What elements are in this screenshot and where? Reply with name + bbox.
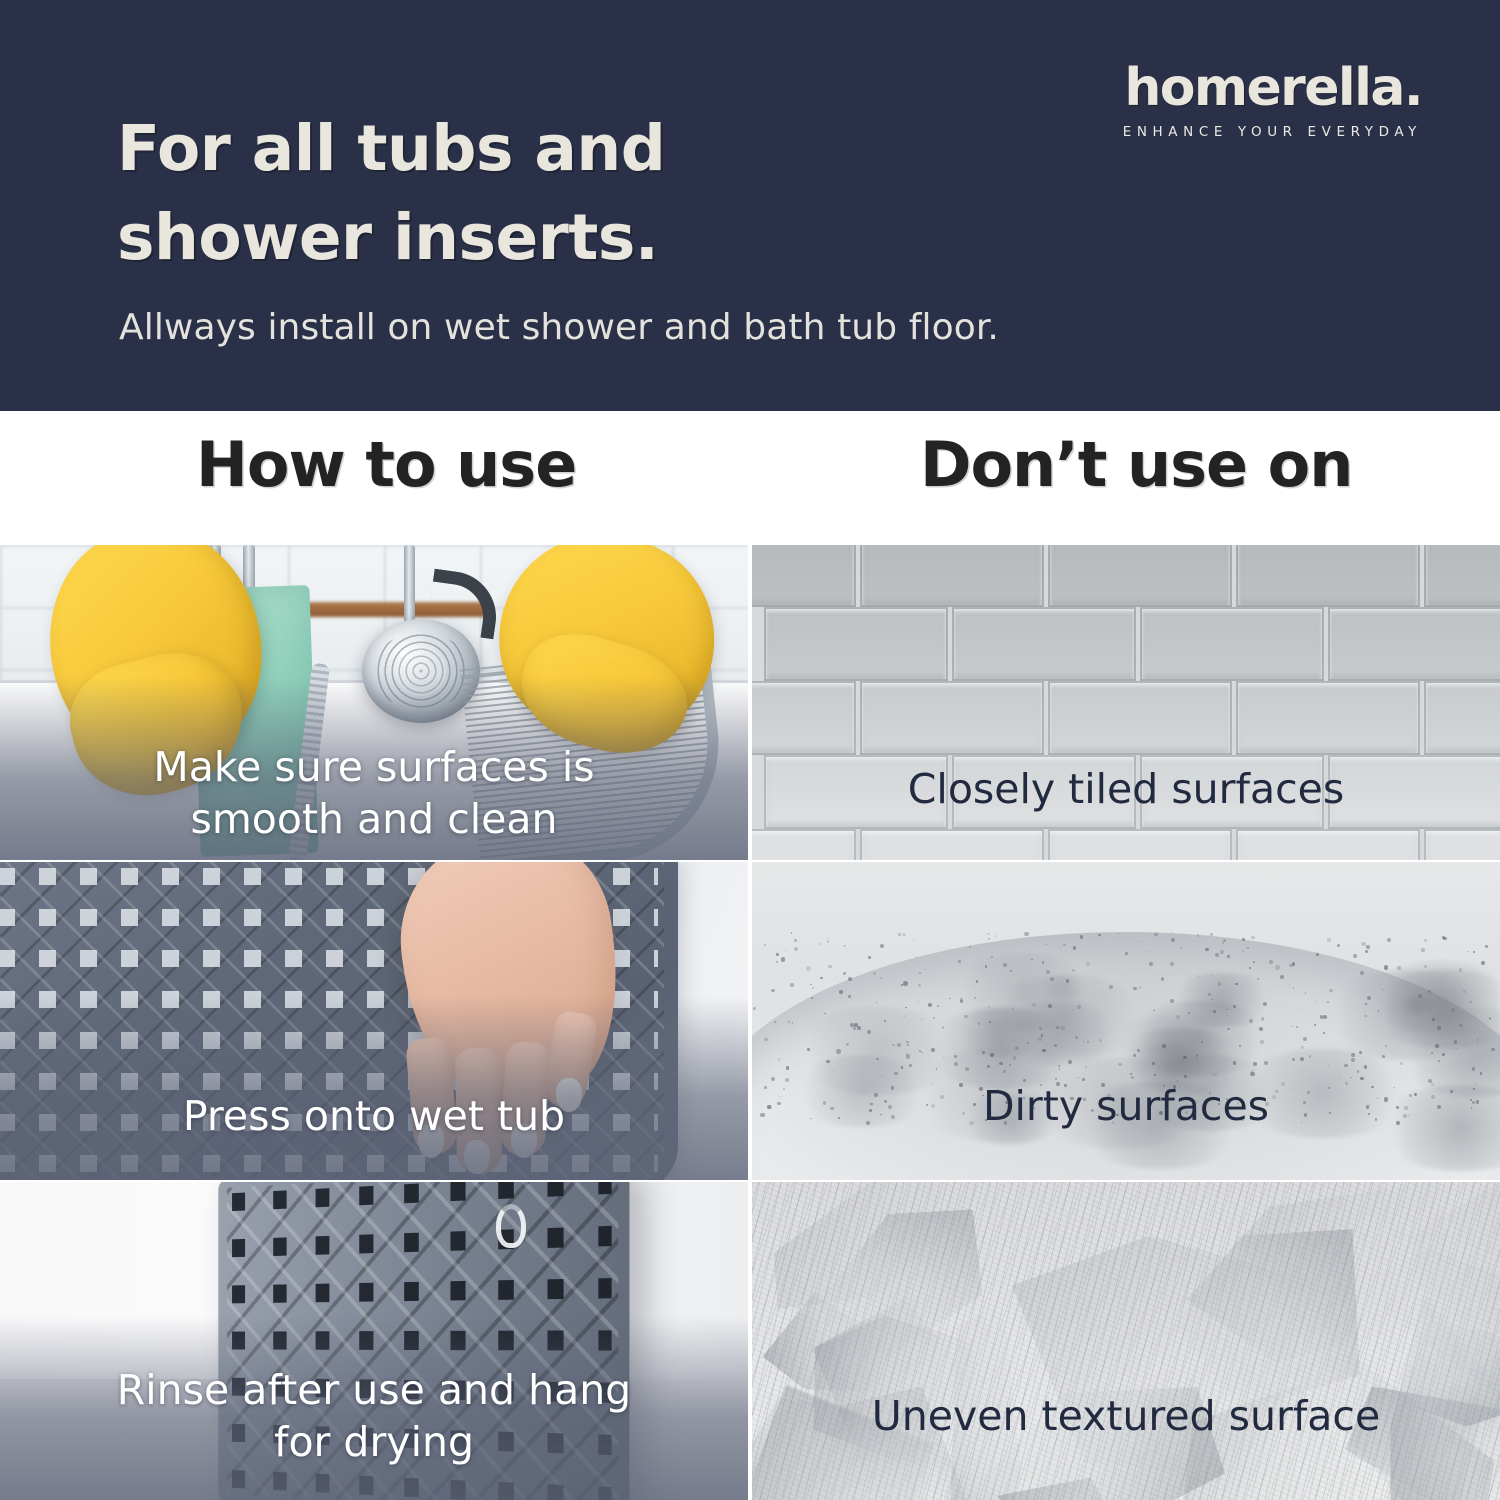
grime-speck — [926, 1104, 928, 1106]
grime-speck — [823, 1101, 826, 1104]
grime-speck — [1039, 1027, 1042, 1030]
grime-speck — [931, 1048, 935, 1052]
grime-speck — [764, 1038, 767, 1041]
grime-speck — [1042, 1049, 1045, 1052]
grime-speck — [1396, 1121, 1400, 1125]
grime-speck — [819, 943, 820, 944]
grime-speck — [933, 1017, 935, 1019]
grime-speck — [1485, 945, 1488, 948]
grime-speck — [1472, 1101, 1475, 1104]
grime-speck — [1032, 1003, 1036, 1007]
grime-speck — [903, 981, 907, 985]
grime-speck — [918, 984, 921, 987]
grime-speck — [1351, 1053, 1355, 1057]
grime-speck — [1109, 985, 1113, 989]
grime-speck — [1235, 983, 1238, 986]
dont-use-on-item-3: Uneven textured surface — [752, 1182, 1500, 1500]
grime-speck — [1353, 954, 1357, 958]
grime-speck — [1239, 1045, 1241, 1047]
grime-speck — [776, 953, 779, 956]
grime-speck — [1323, 1015, 1327, 1019]
grime-speck — [1064, 1084, 1066, 1086]
grime-speck — [1329, 989, 1332, 992]
grime-speck — [1220, 950, 1224, 954]
grime-speck — [1259, 1027, 1263, 1031]
grime-speck — [892, 1044, 894, 1046]
subway-tile — [752, 545, 856, 607]
subway-tile — [1236, 545, 1420, 607]
grime-speck — [1149, 962, 1153, 966]
grime-speck — [1046, 944, 1047, 945]
grime-speck — [812, 987, 814, 989]
grime-speck — [786, 1066, 789, 1069]
grime-speck — [1077, 1005, 1081, 1009]
grime-speck — [1208, 993, 1211, 996]
subway-tile — [860, 829, 1044, 860]
grime-speck — [777, 1102, 780, 1105]
grime-speck — [904, 1015, 905, 1016]
grime-speck — [1365, 950, 1368, 953]
subway-tile — [764, 607, 948, 681]
grime-speck — [1475, 1083, 1476, 1084]
grime-speck — [1131, 1076, 1134, 1079]
grime-speck — [1253, 961, 1255, 963]
grime-speck — [1023, 1079, 1026, 1082]
grime-speck — [771, 989, 775, 993]
grime-speck — [850, 1023, 854, 1027]
grime-speck — [1467, 951, 1469, 953]
subway-tile — [1424, 681, 1500, 755]
grime-speck — [1098, 934, 1100, 936]
grime-speck — [880, 1114, 882, 1116]
grime-speck — [1070, 1097, 1074, 1101]
grime-speck — [868, 956, 871, 959]
grime-speck — [880, 977, 881, 978]
grime-speck — [873, 972, 876, 975]
grime-speck — [1059, 1068, 1060, 1069]
grime-speck — [1424, 965, 1427, 968]
grime-speck — [1260, 1040, 1264, 1044]
grime-speck — [1403, 1114, 1407, 1118]
grime-speck — [1400, 1062, 1403, 1065]
grime-speck — [1364, 1065, 1368, 1069]
grime-speck — [1381, 953, 1382, 954]
grime-speck — [1361, 942, 1365, 946]
grime-speck — [1365, 1003, 1367, 1005]
grime-speck — [1414, 1093, 1417, 1096]
grime-speck — [905, 1007, 907, 1009]
grime-speck — [1193, 1100, 1197, 1104]
grime-speck — [1080, 935, 1084, 939]
grime-speck — [1345, 1082, 1348, 1085]
grime-speck — [774, 1021, 776, 1023]
grime-speck — [1227, 1028, 1229, 1030]
grime-speck — [1316, 953, 1319, 956]
grime-speck — [1480, 1072, 1482, 1074]
grime-speck — [1177, 1080, 1178, 1081]
section-title-dont-use-on: Don’t use on — [920, 428, 1352, 501]
grime-speck — [874, 1093, 878, 1097]
grime-speck — [807, 1048, 810, 1051]
grime-speck — [942, 1026, 944, 1028]
section-title-how-to-use: How to use — [196, 428, 576, 501]
grime-speck — [969, 1121, 973, 1125]
grime-speck — [1357, 1070, 1360, 1073]
grime-speck — [959, 1083, 963, 1087]
subway-tile — [752, 829, 856, 860]
grime-speck — [989, 1021, 991, 1023]
grime-speck — [1171, 938, 1175, 942]
page-subheadline: Allways install on wet shower and bath t… — [119, 306, 999, 349]
grime-speck — [810, 984, 812, 986]
grime-speck — [1428, 1079, 1432, 1083]
caption-scrim — [0, 996, 748, 1180]
subway-tile — [1328, 755, 1500, 829]
grime-speck — [1385, 1045, 1387, 1047]
grime-speck — [1227, 955, 1230, 958]
grime-speck — [783, 1088, 785, 1090]
section-titles-band: How to use Don’t use on — [0, 411, 1500, 545]
grime-speck — [919, 972, 921, 974]
headline-line-2: shower inserts. — [117, 193, 937, 282]
page-headline: For all tubs and shower inserts. — [117, 104, 937, 283]
grime-speck — [902, 933, 905, 936]
grime-speck — [1371, 1086, 1373, 1088]
grime-speck — [1163, 1085, 1165, 1087]
grime-speck — [1368, 1113, 1370, 1115]
grime-speck — [999, 1062, 1003, 1066]
grime-speck — [767, 1105, 771, 1109]
subway-tile — [1048, 681, 1232, 755]
grime-speck — [898, 933, 900, 935]
grime-speck — [1073, 946, 1076, 949]
grime-speck — [994, 1023, 995, 1024]
how-to-use-step-2: Press onto wet tub — [0, 862, 748, 1180]
caption-scrim — [0, 677, 748, 860]
grime-speck — [1251, 936, 1255, 940]
grime-speck — [982, 1095, 983, 1096]
brand-logo: homerella. ENHANCE YOUR EVERYDAY — [1123, 62, 1422, 140]
grime-speck — [1233, 1061, 1237, 1065]
brand-wordmark: homerella. — [1123, 62, 1422, 114]
subway-tile — [1424, 829, 1500, 860]
grime-speck — [1015, 1046, 1019, 1050]
grime-speck — [1058, 1065, 1060, 1067]
header-banner: For all tubs and shower inserts. Allways… — [0, 0, 1500, 411]
grime-speck — [1091, 1109, 1094, 1112]
grime-speck — [833, 948, 834, 949]
grime-speck — [1438, 1060, 1439, 1061]
grime-speck — [1384, 965, 1388, 969]
grime-speck — [1264, 1061, 1268, 1065]
grime-patch — [945, 954, 1099, 1031]
grime-speck — [806, 966, 810, 970]
dont-use-on-item-1: Closely tiled surfaces — [752, 545, 1500, 860]
subway-tile — [1140, 755, 1324, 829]
tile-row — [752, 545, 1500, 607]
grime-speck — [988, 938, 990, 940]
subway-tile — [860, 545, 1044, 607]
grime-speck — [1008, 1103, 1012, 1107]
grime-speck — [1300, 1057, 1304, 1061]
grime-speck — [1107, 1094, 1111, 1098]
grime-speck — [901, 984, 903, 986]
brand-tagline: ENHANCE YOUR EVERYDAY — [1123, 124, 1422, 140]
grime-speck — [843, 945, 846, 948]
grime-speck — [1148, 951, 1150, 953]
suction-hook-icon — [496, 1204, 526, 1248]
grime-speck — [776, 961, 778, 963]
grime-speck — [1153, 1010, 1154, 1011]
grime-speck — [1072, 969, 1075, 972]
grime-speck — [985, 1119, 987, 1121]
grime-speck — [764, 944, 766, 946]
grime-speck — [969, 946, 971, 948]
grime-speck — [785, 950, 786, 951]
grime-speck — [1006, 1094, 1009, 1097]
grime-speck — [1205, 948, 1208, 951]
grime-speck — [906, 1041, 908, 1043]
grime-speck — [1086, 962, 1090, 966]
grime-speck — [827, 938, 828, 939]
grime-speck — [1253, 1062, 1257, 1066]
tile-row — [752, 607, 1500, 681]
grime-speck — [794, 947, 798, 951]
grime-speck — [1421, 948, 1425, 952]
grime-speck — [1223, 939, 1226, 942]
dont-use-on-item-2: Dirty surfaces — [752, 862, 1500, 1180]
subway-tile — [1048, 829, 1232, 860]
grime-speck — [965, 1067, 968, 1070]
grime-speck — [781, 957, 785, 961]
grime-speck — [1173, 1085, 1177, 1089]
grime-speck — [1272, 1095, 1276, 1099]
grime-speck — [1366, 1105, 1369, 1108]
grime-speck — [1050, 977, 1054, 981]
grime-speck — [964, 1015, 967, 1018]
grime-speck — [790, 983, 794, 987]
grime-speck — [1257, 978, 1259, 980]
grime-speck — [1009, 1064, 1011, 1066]
grime-speck — [1431, 1083, 1433, 1085]
grime-speck — [1275, 965, 1279, 969]
grime-speck — [958, 960, 961, 963]
grime-speck — [1012, 1008, 1014, 1010]
grime-speck — [1180, 947, 1181, 948]
grime-speck — [921, 1052, 922, 1053]
grime-speck — [995, 935, 996, 936]
subway-tile — [752, 681, 856, 755]
grime-speck — [1481, 961, 1485, 965]
grime-speck — [1377, 1097, 1378, 1098]
grime-speck — [1083, 1098, 1086, 1101]
subway-tile — [1424, 545, 1500, 607]
grime-speck — [1424, 939, 1427, 942]
grime-speck — [891, 1115, 895, 1119]
grime-speck — [1442, 1053, 1445, 1056]
grime-speck — [1176, 1015, 1179, 1018]
caption-scrim — [0, 1316, 748, 1500]
grime-speck — [753, 1007, 756, 1010]
grime-speck — [913, 939, 914, 940]
grime-speck — [1366, 945, 1370, 949]
grime-speck — [1472, 1067, 1476, 1071]
grime-speck — [843, 972, 846, 975]
how-to-use-step-3: Rinse after use and hang for drying — [0, 1182, 748, 1500]
tile-row — [752, 829, 1500, 860]
grime-speck — [1071, 947, 1072, 948]
grime-speck — [828, 965, 831, 968]
subway-tile — [860, 681, 1044, 755]
grime-speck — [1329, 1112, 1331, 1114]
subway-tile — [1140, 607, 1324, 681]
grime-speck — [1431, 1052, 1433, 1054]
grime-speck — [888, 1105, 892, 1109]
infographic-page: For all tubs and shower inserts. Allways… — [0, 0, 1500, 1500]
subway-tile — [952, 755, 1136, 829]
grime-speck — [1159, 1111, 1163, 1115]
grime-speck — [1337, 944, 1340, 947]
grime-speck — [1075, 1036, 1078, 1039]
tile-row — [752, 681, 1500, 755]
grime-speck — [1301, 1046, 1304, 1049]
grime-speck — [1188, 1012, 1190, 1014]
subway-tile — [952, 607, 1136, 681]
grime-speck — [1396, 1106, 1399, 1109]
grime-speck — [1063, 944, 1065, 946]
grime-speck — [976, 980, 979, 983]
grime-patch — [1167, 973, 1276, 1027]
grime-speck — [973, 1103, 976, 1106]
grime-speck — [838, 1117, 840, 1119]
grime-speck — [1437, 1105, 1441, 1109]
grime-speck — [1118, 1063, 1122, 1067]
subway-tile — [1328, 607, 1500, 681]
grime-speck — [1418, 994, 1422, 998]
grime-speck — [987, 933, 989, 935]
instruction-grid: Make sure surfaces is smooth and clean P… — [0, 545, 1500, 1500]
grime-speck — [1327, 938, 1331, 942]
grime-speck — [1432, 1018, 1434, 1020]
grime-speck — [1431, 1095, 1434, 1098]
grime-speck — [1397, 966, 1400, 969]
grime-speck — [1382, 1055, 1385, 1058]
grime-speck — [978, 1022, 981, 1025]
grime-speck — [1476, 1100, 1479, 1103]
grime-speck — [1251, 1070, 1255, 1074]
grime-speck — [760, 1113, 764, 1117]
grime-speck — [931, 1104, 935, 1108]
grime-speck — [826, 1060, 830, 1064]
grime-speck — [1387, 938, 1391, 942]
grime-speck — [1056, 1026, 1058, 1028]
grime-speck — [1437, 1026, 1440, 1029]
subway-tile — [1236, 681, 1420, 755]
grime-speck — [778, 1058, 781, 1061]
grime-speck — [1046, 970, 1050, 974]
grime-speck — [1024, 932, 1028, 936]
subway-tile — [1048, 545, 1232, 607]
grime-speck — [791, 932, 792, 933]
grime-speck — [1218, 982, 1221, 985]
tile-row — [752, 755, 1500, 829]
grime-speck — [937, 1005, 939, 1007]
grime-speck — [846, 1043, 849, 1046]
grime-speck — [1013, 1056, 1016, 1059]
grime-speck — [820, 977, 822, 979]
grime-speck — [1112, 1121, 1115, 1124]
grime-speck — [1301, 1122, 1302, 1123]
subway-tile — [1236, 829, 1420, 860]
grime-speck — [1327, 1001, 1329, 1003]
grime-speck — [1309, 1055, 1312, 1058]
grime-speck — [1470, 1099, 1472, 1101]
grime-speck — [836, 1049, 840, 1053]
grime-speck — [827, 940, 830, 943]
how-to-use-step-1: Make sure surfaces is smooth and clean — [0, 545, 748, 860]
grime-speck — [1404, 1106, 1407, 1109]
grime-speck — [1211, 975, 1212, 976]
subway-tile — [764, 755, 948, 829]
grime-speck — [1323, 1032, 1325, 1034]
headline-line-1: For all tubs and — [117, 104, 937, 193]
grime-speck — [1443, 937, 1446, 940]
grime-speck — [1130, 1073, 1132, 1075]
grime-speck — [1198, 976, 1199, 977]
grime-speck — [854, 1023, 857, 1026]
grime-speck — [928, 1003, 932, 1007]
grime-speck — [901, 1066, 903, 1068]
grime-speck — [1473, 951, 1474, 952]
grime-speck — [1170, 999, 1174, 1003]
grime-speck — [880, 944, 884, 948]
grime-speck — [824, 1013, 825, 1014]
grime-speck — [794, 939, 797, 942]
grime-speck — [1226, 1009, 1227, 1010]
grime-speck — [1056, 1082, 1059, 1085]
grime-speck — [848, 977, 852, 981]
grime-speck — [870, 1103, 873, 1106]
grime-speck — [1101, 1083, 1105, 1087]
grime-speck — [1162, 1044, 1166, 1048]
